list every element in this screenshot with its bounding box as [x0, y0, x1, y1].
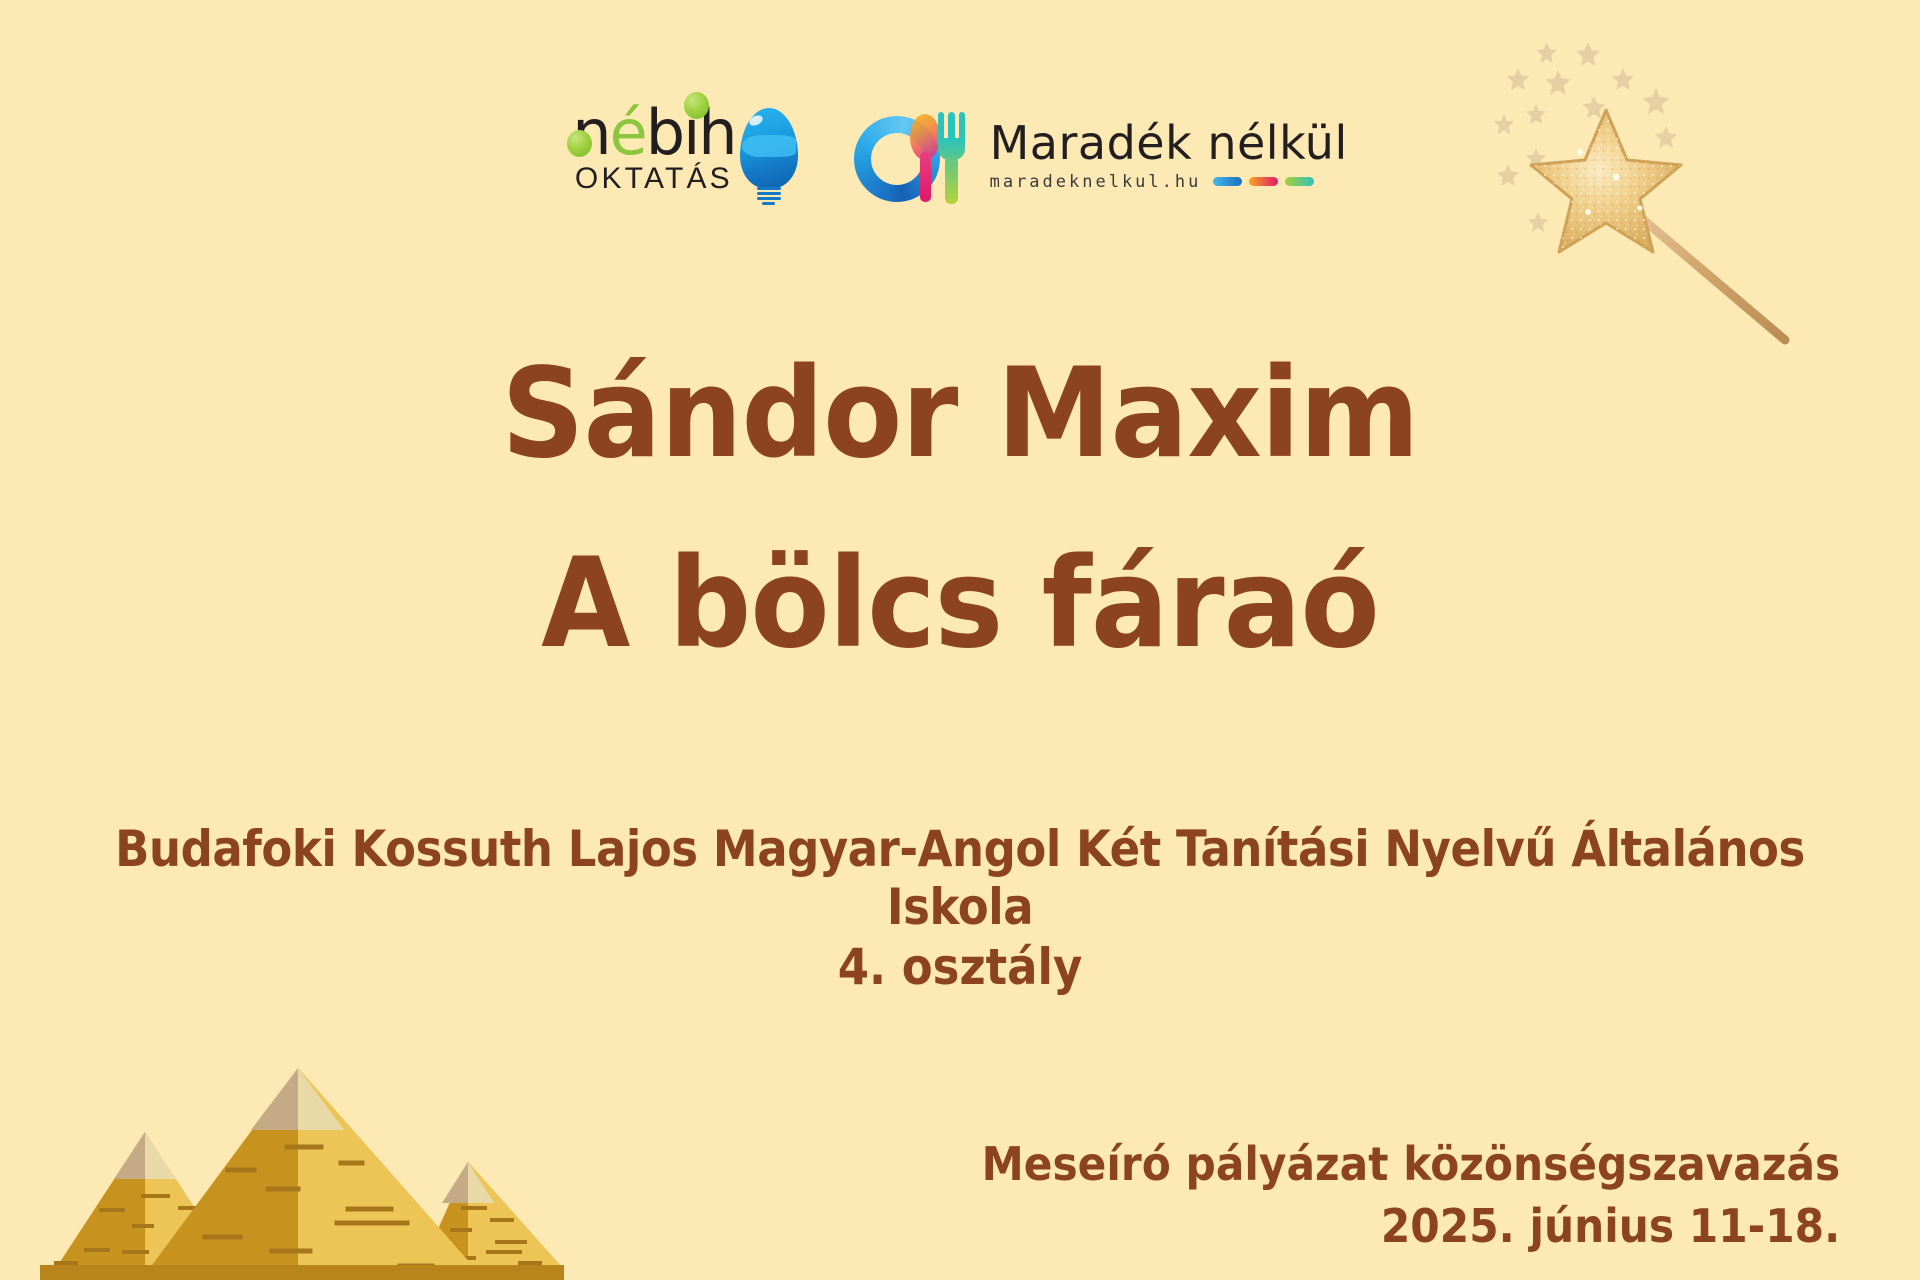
- grade-label: 4. osztály: [96, 938, 1824, 996]
- maradek-nelkul-url: maradeknelkul.hu: [990, 172, 1202, 192]
- nebih-logo: nébih OKTATÁS: [572, 104, 797, 206]
- footer-block: Meseíró pályázat közönségszavazás 2025. …: [981, 1133, 1840, 1258]
- nebih-letter-e: é: [610, 96, 646, 169]
- nebih-letter-b: b: [646, 96, 683, 169]
- plate-spoon-fork-icon: [854, 108, 970, 204]
- story-title: A bölcs fáraó: [67, 540, 1853, 669]
- pyramid-center: [150, 1068, 472, 1268]
- event-dates: 2025. június 11-18.: [981, 1195, 1840, 1258]
- nebih-wordmark: nébih: [572, 104, 735, 161]
- pyramid-base-line: [40, 1265, 564, 1280]
- nebih-wordmark-block: nébih OKTATÁS: [572, 104, 735, 196]
- maradek-nelkul-title: Maradék nélkül: [990, 120, 1348, 167]
- slide-canvas: nébih OKTATÁS Maradék: [0, 0, 1920, 1280]
- maradek-nelkul-dashes-icon: [1213, 177, 1314, 186]
- logo-bar: nébih OKTATÁS Maradék: [0, 104, 1920, 206]
- lightbulb-icon: [740, 108, 798, 206]
- fork-icon: [936, 112, 968, 204]
- author-name: Sándor Maxim: [67, 350, 1853, 479]
- school-name: Budafoki Kossuth Lajos Magyar-Angol Két …: [96, 820, 1824, 936]
- maradek-nelkul-text-block: Maradék nélkül maradeknelkul.hu: [990, 120, 1348, 192]
- event-name: Meseíró pályázat közönségszavazás: [981, 1133, 1840, 1196]
- pyramids-illustration: [0, 1020, 600, 1280]
- maradek-nelkul-logo: Maradék nélkül maradeknelkul.hu: [854, 108, 1348, 204]
